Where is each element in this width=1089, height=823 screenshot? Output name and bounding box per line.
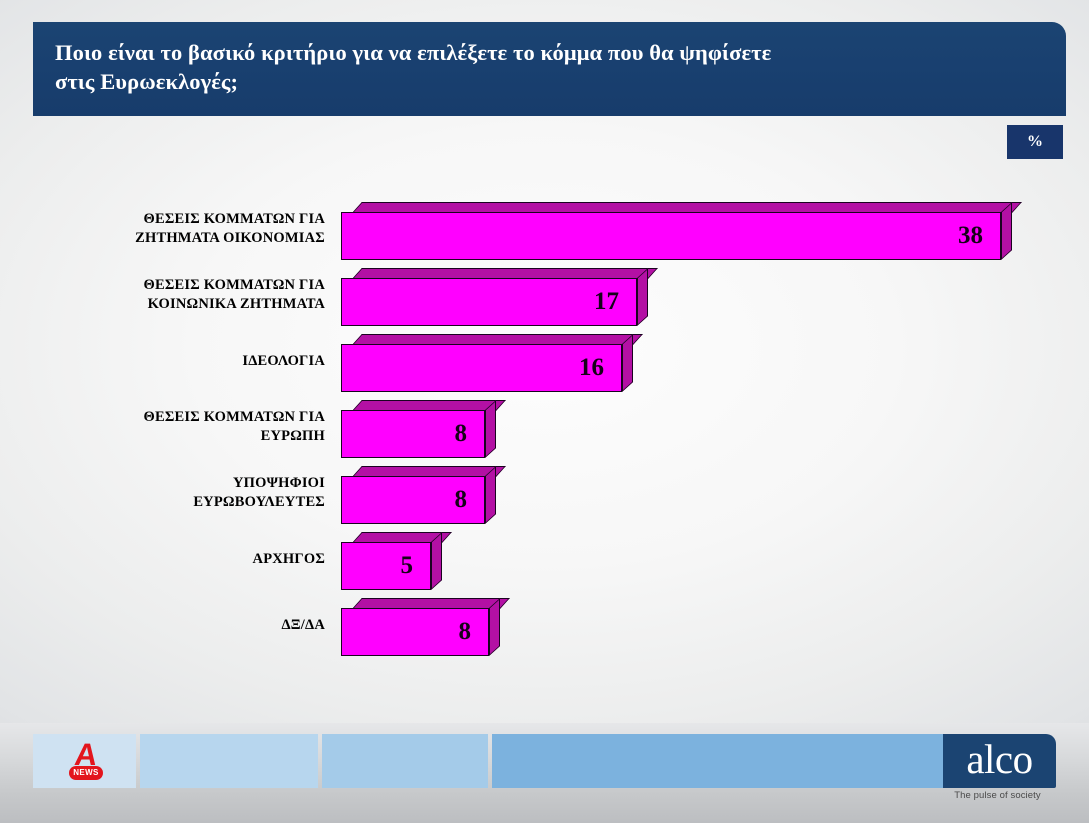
chart-row: ΔΞ/ΔΑ8 <box>0 592 1089 658</box>
percent-badge-label: % <box>1027 133 1043 151</box>
alco-logo-text: alco <box>966 739 1032 783</box>
chart-row: ΑΡΧΗΓΟΣ5 <box>0 526 1089 592</box>
bar-3d: 17 <box>341 268 648 326</box>
footer-segment-brand: alco The pulse of society <box>981 734 1056 788</box>
category-label-line: ΑΡΧΗΓΟΣ <box>253 550 325 569</box>
chart-row: ΘΕΣΕΙΣ ΚΟΜΜΑΤΩΝ ΓΙΑΖΗΤΗΜΑΤΑ ΟΙΚΟΝΟΜΙΑΣ38 <box>0 196 1089 262</box>
category-label-line: ΘΕΣΕΙΣ ΚΟΜΜΑΤΩΝ ΓΙΑ <box>144 210 325 229</box>
bar-value-label: 16 <box>341 344 604 392</box>
chart-row: ΘΕΣΕΙΣ ΚΟΜΜΑΤΩΝ ΓΙΑΚΟΙΝΩΝΙΚΑ ΖΗΤΗΜΑΤΑ17 <box>0 262 1089 328</box>
category-label: ΘΕΣΕΙΣ ΚΟΜΜΑΤΩΝ ΓΙΑΕΥΡΩΠΗ <box>40 394 325 460</box>
chart-row: ΥΠΟΨΗΦΙΟΙΕΥΡΩΒΟΥΛΕΥΤΕΣ8 <box>0 460 1089 526</box>
anews-logo: A NEWS <box>63 740 109 784</box>
bar-value-label: 17 <box>341 278 619 326</box>
bar-value-label: 8 <box>341 608 471 656</box>
bar-3d: 8 <box>341 466 496 524</box>
footer-color-strip: A NEWS alco The pulse of society <box>33 734 1056 788</box>
alco-tagline: The pulse of society <box>941 790 1054 801</box>
category-label: ΑΡΧΗΓΟΣ <box>40 526 325 592</box>
chart-row: ΘΕΣΕΙΣ ΚΟΜΜΑΤΩΝ ΓΙΑΕΥΡΩΠΗ8 <box>0 394 1089 460</box>
category-label-line: ΔΞ/ΔΑ <box>281 616 325 635</box>
bar-3d: 5 <box>341 532 442 590</box>
category-label-line: ΥΠΟΨΗΦΙΟΙ <box>233 474 325 493</box>
bar-side-face <box>485 466 496 524</box>
footer-segment-2 <box>140 734 318 788</box>
slide-canvas: Ποιο είναι το βασικό κριτήριο για να επι… <box>0 0 1089 823</box>
bar-side-face <box>431 532 442 590</box>
category-label-line: ΕΥΡΩΒΟΥΛΕΥΤΕΣ <box>193 493 325 512</box>
anews-news-label: NEWS <box>69 766 103 780</box>
category-label-line: ΚΟΙΝΩΝΙΚΑ ΖΗΤΗΜΑΤΑ <box>148 295 325 314</box>
category-label-line: ΙΔΕΟΛΟΓΙΑ <box>242 352 325 371</box>
bar-side-face <box>1001 202 1012 260</box>
category-label-line: ΘΕΣΕΙΣ ΚΟΜΜΑΤΩΝ ΓΙΑ <box>144 408 325 427</box>
bar-3d: 38 <box>341 202 1012 260</box>
category-label: ΙΔΕΟΛΟΓΙΑ <box>40 328 325 394</box>
category-label: ΘΕΣΕΙΣ ΚΟΜΜΑΤΩΝ ΓΙΑΚΟΙΝΩΝΙΚΑ ΖΗΤΗΜΑΤΑ <box>40 262 325 328</box>
bar-side-face <box>637 268 648 326</box>
bar-value-label: 38 <box>341 212 983 260</box>
footer-segment-4 <box>492 734 977 788</box>
category-label: ΔΞ/ΔΑ <box>40 592 325 658</box>
bar-value-label: 8 <box>341 410 467 458</box>
category-label-line: ΕΥΡΩΠΗ <box>261 427 325 446</box>
bar-3d: 8 <box>341 400 496 458</box>
bar-chart: ΘΕΣΕΙΣ ΚΟΜΜΑΤΩΝ ΓΙΑΖΗΤΗΜΑΤΑ ΟΙΚΟΝΟΜΙΑΣ38… <box>0 196 1089 686</box>
slide-footer: A NEWS alco The pulse of society <box>0 723 1089 823</box>
bar-side-face <box>489 598 500 656</box>
footer-segment-3 <box>322 734 488 788</box>
footer-segment-logo: A NEWS <box>33 734 136 788</box>
percent-badge: % <box>1007 125 1063 159</box>
category-label-line: ΖΗΤΗΜΑΤΑ ΟΙΚΟΝΟΜΙΑΣ <box>135 229 325 248</box>
alco-logo: alco <box>943 734 1056 788</box>
slide-title-bar: Ποιο είναι το βασικό κριτήριο για να επι… <box>33 22 1066 116</box>
page-title: Ποιο είναι το βασικό κριτήριο για να επι… <box>55 38 1042 96</box>
bar-side-face <box>485 400 496 458</box>
category-label: ΘΕΣΕΙΣ ΚΟΜΜΑΤΩΝ ΓΙΑΖΗΤΗΜΑΤΑ ΟΙΚΟΝΟΜΙΑΣ <box>40 196 325 262</box>
category-label-line: ΘΕΣΕΙΣ ΚΟΜΜΑΤΩΝ ΓΙΑ <box>144 276 325 295</box>
chart-row: ΙΔΕΟΛΟΓΙΑ16 <box>0 328 1089 394</box>
bar-3d: 8 <box>341 598 500 656</box>
category-label: ΥΠΟΨΗΦΙΟΙΕΥΡΩΒΟΥΛΕΥΤΕΣ <box>40 460 325 526</box>
bar-3d: 16 <box>341 334 633 392</box>
bar-value-label: 5 <box>341 542 413 590</box>
bar-side-face <box>622 334 633 392</box>
bar-value-label: 8 <box>341 476 467 524</box>
